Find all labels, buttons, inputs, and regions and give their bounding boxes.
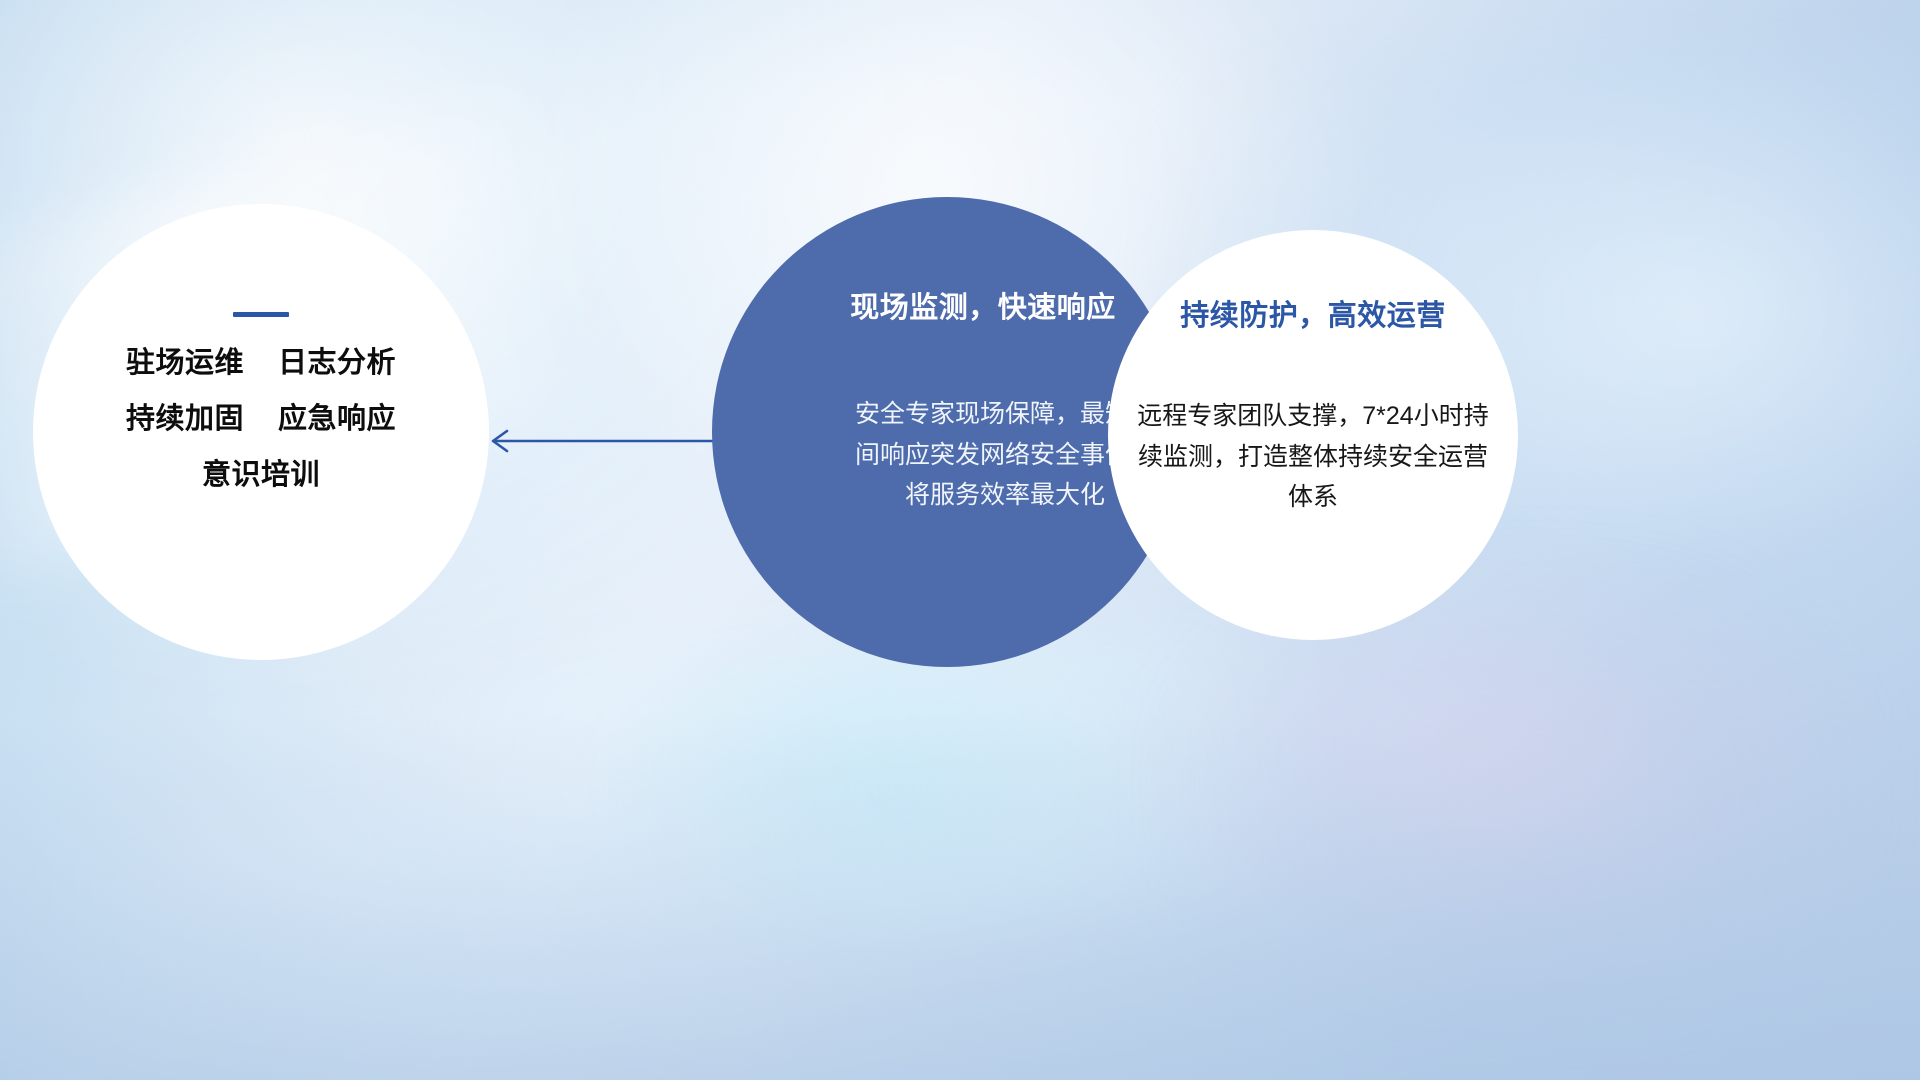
left-keyword: 日志分析 [278,349,396,378]
left-circle-card[interactable]: 驻场运维 日志分析 持续加固 应急响应 意识培训 [33,204,489,660]
left-keyword-row: 驻场运维 日志分析 [126,349,396,378]
left-keyword: 意识培训 [202,461,320,490]
right-circle-card[interactable]: 持续防护，高效运营 远程专家团队支撑，7*24小时持续监测，打造整体持续安全运营… [1108,230,1518,640]
left-keyword-row: 持续加固 应急响应 [126,405,396,434]
left-keyword-row: 意识培训 [202,461,320,490]
leftward-arrow [480,415,730,467]
left-keyword: 驻场运维 [126,349,244,378]
blue-dash-accent-icon [233,312,289,317]
right-circle-title: 持续防护，高效运营 [1180,292,1446,334]
right-circle-body: 远程专家团队支撑，7*24小时持续监测，打造整体持续安全运营体系 [1130,396,1496,518]
right-circle-content: 持续防护，高效运营 远程专家团队支撑，7*24小时持续监测，打造整体持续安全运营… [1108,230,1518,640]
left-keyword: 应急响应 [278,405,396,434]
middle-circle-title: 现场监测，快速响应 [850,284,1116,326]
left-keyword: 持续加固 [126,405,244,434]
diagram-stage: 现场监测，快速响应 安全专家现场保障，最短时间响应突发网络安全事件，将服务效率最… [0,0,1920,1080]
left-circle-content: 驻场运维 日志分析 持续加固 应急响应 意识培训 [33,204,489,660]
